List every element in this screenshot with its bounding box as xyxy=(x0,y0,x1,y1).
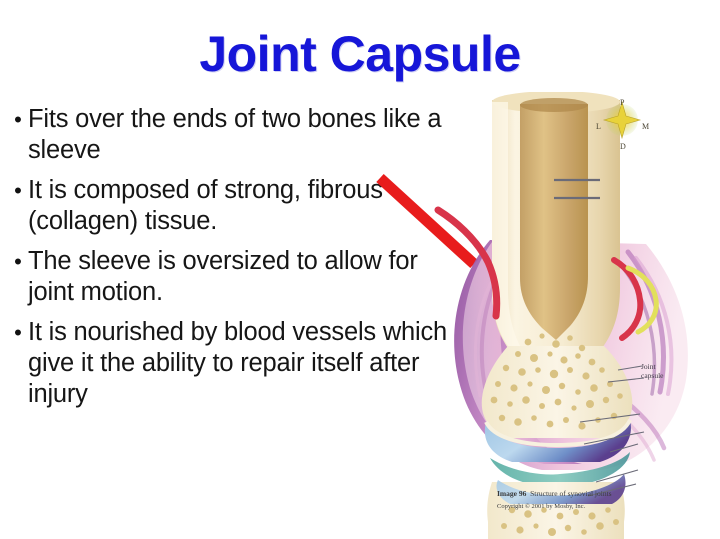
compass-label-medial: M xyxy=(642,122,649,131)
slide-canvas: Joint Capsule • Fits over the ends of tw… xyxy=(0,0,720,539)
compass-label-posterior: P xyxy=(620,98,624,107)
figure-caption: Image 96 Structure of synovial joints xyxy=(497,489,612,498)
list-item: • It is composed of strong, fibrous (col… xyxy=(8,175,460,237)
figure-caption-text: Structure of synovial joints xyxy=(530,489,611,498)
bullet-text: Fits over the ends of two bones like a s… xyxy=(28,104,460,166)
figure-copyright: Copyright © 2001 by Mosby, Inc. xyxy=(497,503,585,510)
bullet-marker-icon: • xyxy=(8,317,28,348)
cavity-rim xyxy=(520,98,588,112)
joint-capsule-label: Joint capsule xyxy=(641,362,664,380)
joint-capsule-label-line1: Joint xyxy=(641,362,664,371)
joint-capsule-label-line2: capsule xyxy=(641,371,664,380)
bullet-marker-icon: • xyxy=(8,175,28,206)
joint-illustration xyxy=(432,92,720,539)
medullary-cavity xyxy=(520,104,588,340)
list-item: • Fits over the ends of two bones like a… xyxy=(8,104,460,166)
compass-label-distal: D xyxy=(620,142,626,151)
bullet-list: • Fits over the ends of two bones like a… xyxy=(8,104,460,419)
synovial-joint-figure: P L M D xyxy=(432,92,720,539)
compass-label-lateral: L xyxy=(596,122,601,131)
list-item: • The sleeve is oversized to allow for j… xyxy=(8,246,460,308)
bullet-marker-icon: • xyxy=(8,246,28,277)
bullet-text: It is composed of strong, fibrous (colla… xyxy=(28,175,460,237)
list-item: • It is nourished by blood vessels which… xyxy=(8,317,460,410)
page-title: Joint Capsule xyxy=(0,28,720,81)
figure-caption-number: Image 96 xyxy=(497,489,526,498)
upper-epiphysis xyxy=(482,346,633,438)
bullet-marker-icon: • xyxy=(8,104,28,135)
bullet-text: The sleeve is oversized to allow for joi… xyxy=(28,246,460,308)
bullet-text: It is nourished by blood vessels which g… xyxy=(28,317,460,410)
